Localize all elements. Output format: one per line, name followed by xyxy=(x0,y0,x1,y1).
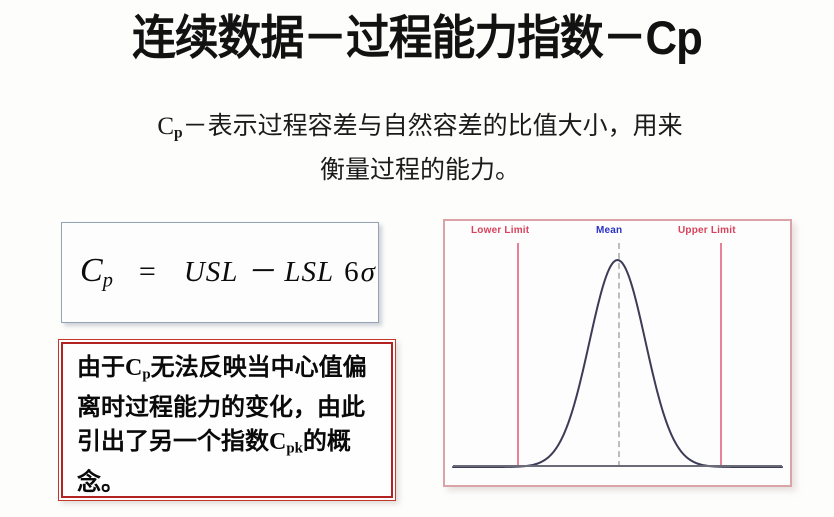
note-text: 由于Cp无法反映当中心值偏离时过程能力的变化，由此引出了另一个指数Cpk的概念。 xyxy=(77,351,381,500)
subtitle-variable-sub: p xyxy=(174,124,183,141)
page-title: 连续数据－过程能力指数－Cp xyxy=(29,8,805,68)
formula-lhs: Cp xyxy=(80,252,113,293)
formula-fraction: USL － LSL 6σ xyxy=(178,258,377,287)
subtitle-line-1: Cp－表示过程容差与自然容差的比值大小，用来 xyxy=(30,108,810,152)
note-box-inner: 由于Cp无法反映当中心值偏离时过程能力的变化，由此引出了另一个指数Cpk的概念。 xyxy=(61,342,393,498)
note-subscript-1: p xyxy=(142,366,150,382)
normal-distribution-chart: Lower Limit Mean Upper Limit xyxy=(443,219,792,487)
formula-denominator-number: 6 xyxy=(344,256,361,288)
note-box: 由于Cp无法反映当中心值偏离时过程能力的变化，由此引出了另一个指数Cpk的概念。 xyxy=(58,339,396,501)
subtitle-variable: Cp xyxy=(157,113,182,140)
formula-expression: Cp = USL － LSL 6σ xyxy=(62,252,377,293)
formula-box: Cp = USL － LSL 6σ xyxy=(61,222,379,323)
note-text-part-1: 由于C xyxy=(77,355,142,381)
subtitle-block: Cp－表示过程容差与自然容差的比值大小，用来 衡量过程的能力。 xyxy=(30,108,810,190)
sigma-symbol: σ xyxy=(361,256,377,288)
formula-lhs-sub: p xyxy=(103,270,113,292)
formula-lhs-base: C xyxy=(80,252,103,289)
formula-denominator: 6σ xyxy=(344,250,377,288)
note-subscript-2: pk xyxy=(286,441,303,457)
subtitle-line-2: 衡量过程的能力。 xyxy=(30,152,810,190)
bell-curve xyxy=(445,221,790,485)
formula-equals-sign: = xyxy=(139,255,156,289)
chart-plot-area: Lower Limit Mean Upper Limit xyxy=(445,221,790,485)
subtitle-text-1: －表示过程容差与自然容差的比值大小，用来 xyxy=(183,113,683,140)
subtitle-variable-base: C xyxy=(157,113,174,140)
chart-baseline xyxy=(453,465,782,467)
formula-numerator: USL － LSL xyxy=(178,256,340,293)
